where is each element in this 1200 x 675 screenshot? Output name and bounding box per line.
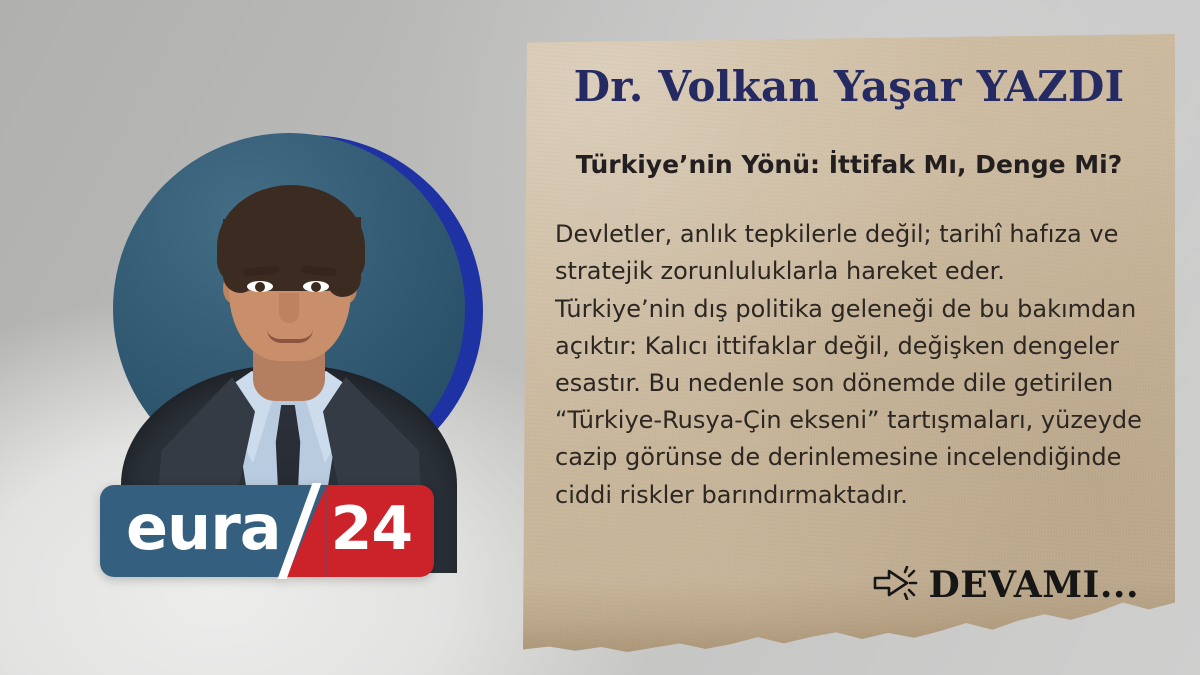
nose (279, 293, 299, 323)
mouth (267, 329, 313, 343)
logo-number: 24 (331, 499, 413, 559)
logo-wordmark: eura (126, 497, 281, 559)
torn-paper-card: Dr. Volkan Yaşar YAZDI Türkiye’nin Yönü:… (523, 34, 1175, 652)
logo-left-panel: eura (100, 485, 287, 577)
paper-content: Dr. Volkan Yaşar YAZDI Türkiye’nin Yönü:… (523, 34, 1175, 652)
read-more-label: DEVAMI... (928, 567, 1139, 603)
eye-right (303, 281, 329, 292)
eura24-logo[interactable]: eura 24 (100, 485, 434, 577)
logo-slash-separator (287, 485, 327, 577)
eye-left (247, 281, 273, 292)
author-name: Dr. Volkan Yaşar YAZDI (553, 64, 1145, 110)
article-subtitle: Türkiye’nin Yönü: İttifak Mı, Denge Mi? (553, 150, 1145, 180)
article-body-text: Devletler, anlık tepkilerle değil; tarih… (555, 216, 1143, 514)
cursor-click-icon (872, 566, 918, 604)
hair (217, 185, 365, 291)
logo-right-panel: 24 (327, 485, 435, 577)
social-card: eura 24 Dr. Volkan Yaşar YAZDI Türkiye’n… (0, 0, 1200, 675)
read-more-button[interactable]: DEVAMI... (872, 566, 1139, 604)
